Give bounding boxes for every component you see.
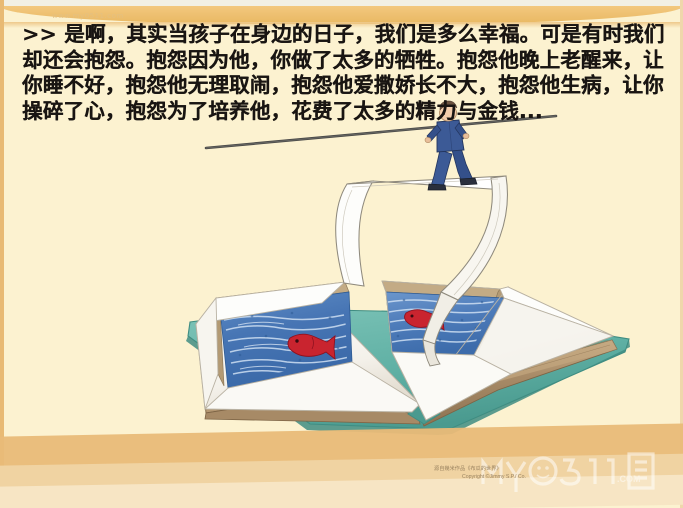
top-watermark: www.my0511.com [52,12,124,20]
narration-text: >> 是啊，其实当孩子在身边的日子，我们是多么幸福。可是有时我们却还会抱怨。抱怨… [22,22,667,124]
credit-copyright: Copyright ©Jimmy S.P./ Co. [434,474,664,482]
credit-source: 源自幾米作品《布瓜的世界》 [434,466,664,474]
slide-canvas: .COM www.my0511.com >> 是啊，其实当孩子在身边的日子，我们… [0,0,683,508]
credit-block: 源自幾米作品《布瓜的世界》 Copyright ©Jimmy S.P./ Co. [434,466,664,481]
